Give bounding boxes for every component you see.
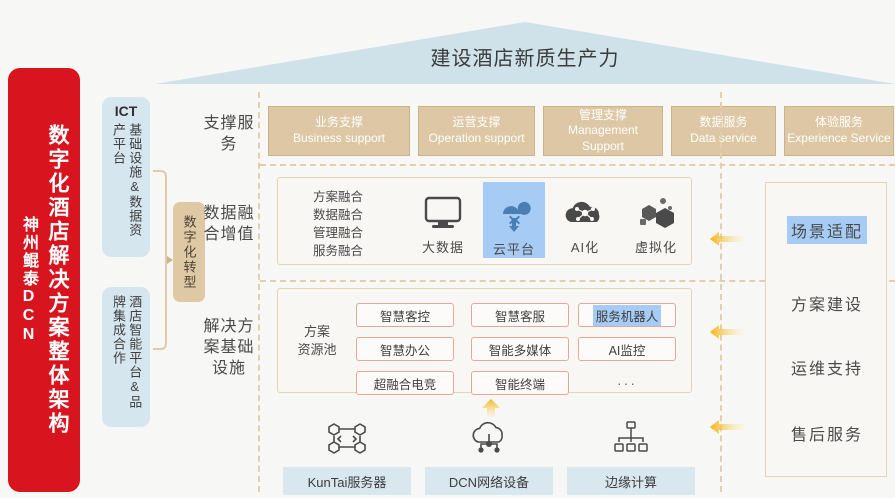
- row-label-solution-infra: 解决方案基础设施: [200, 317, 258, 379]
- fusion-item-bigdata[interactable]: 大数据: [403, 188, 483, 256]
- resource-pool-label-line1: 方案: [286, 323, 348, 341]
- fusion-item-virtualization[interactable]: 虚拟化: [623, 188, 689, 256]
- server-nodes-icon: [326, 420, 368, 463]
- fusion-line-4: 服务融合: [288, 242, 388, 260]
- support-card-management-cn: 管理支撑: [579, 108, 627, 124]
- support-card-business[interactable]: 业务支撑 Business support: [268, 106, 410, 156]
- fusion-item-bigdata-label: 大数据: [422, 237, 464, 256]
- pool-item-label: AI监控: [609, 340, 646, 359]
- pillar-hotel-platform[interactable]: 酒店智能平台&品牌集成合作: [102, 287, 150, 427]
- pool-item-label: 超融合电竞: [374, 374, 437, 393]
- support-card-operation-en: Operation support: [428, 131, 524, 147]
- pool-item-label: 智能终端: [495, 374, 545, 393]
- arrow-up-icon: [478, 399, 504, 417]
- pillar-ict-platform[interactable]: ICT 基础设施&数据资产平台: [102, 97, 150, 257]
- right-service-label: 方案建设: [787, 289, 867, 317]
- resource-pool-panel: 方案 资源池 智慧客控 智慧客服 服务机器人 智慧办公 智能多媒体 AI监控 超…: [277, 288, 692, 393]
- infra-item-edge-computing[interactable]: 边缘计算: [567, 420, 695, 495]
- cloud-network-icon: [467, 420, 511, 463]
- ai-cloud-icon: [563, 191, 607, 235]
- right-services-panel: 场景适配 方案建设 运维支持 售后服务: [765, 182, 887, 477]
- main-title-bar: 数字化酒店解决方案整体架构 神州鲲泰DCN: [8, 68, 80, 492]
- row-label-support: 支撑服务: [200, 114, 258, 156]
- support-card-data[interactable]: 数据服务 Data service: [671, 106, 776, 156]
- pool-item-label: 智慧办公: [380, 340, 430, 359]
- divider-horizontal-1: [260, 164, 895, 166]
- architecture-diagram: 数字化酒店解决方案整体架构 神州鲲泰DCN 建设酒店新质生产力 ICT 基础设施…: [0, 0, 895, 498]
- divider-vertical-left: [258, 92, 260, 492]
- pool-item-smart-office[interactable]: 智慧办公: [356, 337, 454, 361]
- infra-item-kuntai-server[interactable]: KunTai服务器: [283, 420, 411, 495]
- edge-tree-icon: [611, 420, 651, 463]
- support-card-business-cn: 业务支撑: [315, 115, 363, 131]
- right-service-ops-support[interactable]: 运维支持: [766, 353, 888, 381]
- support-card-experience[interactable]: 体验服务 Experience Service: [784, 106, 894, 156]
- pool-item-label: 智慧客控: [380, 306, 430, 325]
- monitor-icon: [424, 191, 462, 235]
- cloud-sync-icon: [492, 193, 536, 237]
- right-service-label: 场景适配: [787, 216, 867, 244]
- support-card-management-en: Management Support: [546, 123, 660, 154]
- fusion-item-ai-label: AI化: [571, 237, 599, 256]
- support-card-management[interactable]: 管理支撑 Management Support: [543, 106, 663, 156]
- right-service-scene-adaptation[interactable]: 场景适配: [766, 216, 888, 244]
- pool-item-smart-customer-service[interactable]: 智慧客服: [471, 303, 569, 327]
- fusion-item-ai[interactable]: AI化: [550, 188, 620, 256]
- right-service-label: 售后服务: [787, 419, 867, 447]
- right-service-after-sales[interactable]: 售后服务: [766, 419, 888, 447]
- cubes-icon: [636, 191, 676, 235]
- data-fusion-panel: 方案融合 数据融合 管理融合 服务融合 大数据: [277, 177, 692, 265]
- arrow-left-icon-2: [710, 325, 744, 339]
- support-card-data-en: Data service: [690, 131, 757, 147]
- resource-pool-label-line2: 资源池: [286, 341, 348, 359]
- fusion-line-3: 管理融合: [288, 224, 388, 242]
- right-service-label: 运维支持: [787, 353, 867, 381]
- pool-item-smart-room-control[interactable]: 智慧客控: [356, 303, 454, 327]
- pool-item-label: 智能多媒体: [489, 340, 552, 359]
- row-label-data-fusion: 数据融合增值: [200, 204, 258, 246]
- resource-pool-label: 方案 资源池: [286, 323, 348, 359]
- pool-item-hyperconverged-esports[interactable]: 超融合电竞: [356, 371, 454, 395]
- pool-item-label: 智慧客服: [495, 306, 545, 325]
- fusion-line-1: 方案融合: [288, 188, 388, 206]
- support-card-experience-en: Experience Service: [787, 131, 890, 147]
- support-card-data-cn: 数据服务: [699, 115, 747, 131]
- fusion-line-2: 数据融合: [288, 206, 388, 224]
- fusion-item-virtualization-label: 虚拟化: [635, 237, 677, 256]
- ict-platform-text: 基础设施&数据资产平台: [110, 123, 143, 249]
- roof-label: 建设酒店新质生产力: [155, 42, 895, 71]
- pool-item-smart-multimedia[interactable]: 智能多媒体: [471, 337, 569, 361]
- arrow-left-icon-1: [710, 232, 744, 246]
- pool-item-ai-monitoring[interactable]: AI监控: [578, 337, 676, 361]
- pool-item-label: 服务机器人: [593, 305, 662, 326]
- fusion-text-block: 方案融合 数据融合 管理融合 服务融合: [288, 188, 388, 261]
- main-title-text: 数字化酒店解决方案整体架构: [42, 124, 72, 436]
- support-card-business-en: Business support: [293, 131, 385, 147]
- fusion-item-cloud[interactable]: 云平台: [483, 182, 545, 258]
- support-services-row: 业务支撑 Business support 运营支撑 Operation sup…: [268, 106, 894, 156]
- infra-chip-dcn-network[interactable]: DCN网络设备: [425, 467, 553, 495]
- support-card-operation-cn: 运营支撑: [452, 115, 500, 131]
- pool-item-more-ellipsis: ···: [578, 371, 676, 395]
- infra-chip-edge-computing[interactable]: 边缘计算: [567, 467, 695, 495]
- digital-transformation-text: 数字化转型: [180, 215, 199, 290]
- infra-chip-kuntai-server[interactable]: KunTai服务器: [283, 467, 411, 495]
- ict-heading: ICT: [102, 103, 150, 119]
- support-card-experience-cn: 体验服务: [815, 115, 863, 131]
- arrow-left-icon-3: [710, 420, 744, 434]
- sub-title-text: 神州鲲泰DCN: [16, 216, 40, 345]
- right-service-solution-construction[interactable]: 方案建设: [766, 289, 888, 317]
- pool-item-service-robot[interactable]: 服务机器人: [578, 303, 676, 327]
- infra-item-dcn-network[interactable]: DCN网络设备: [425, 420, 553, 495]
- brace-connector: [153, 170, 167, 350]
- pool-item-smart-terminal[interactable]: 智能终端: [471, 371, 569, 395]
- fusion-item-cloud-label: 云平台: [493, 239, 535, 258]
- hotel-platform-text: 酒店智能平台&品牌集成合作: [110, 295, 143, 419]
- support-card-operation[interactable]: 运营支撑 Operation support: [418, 106, 535, 156]
